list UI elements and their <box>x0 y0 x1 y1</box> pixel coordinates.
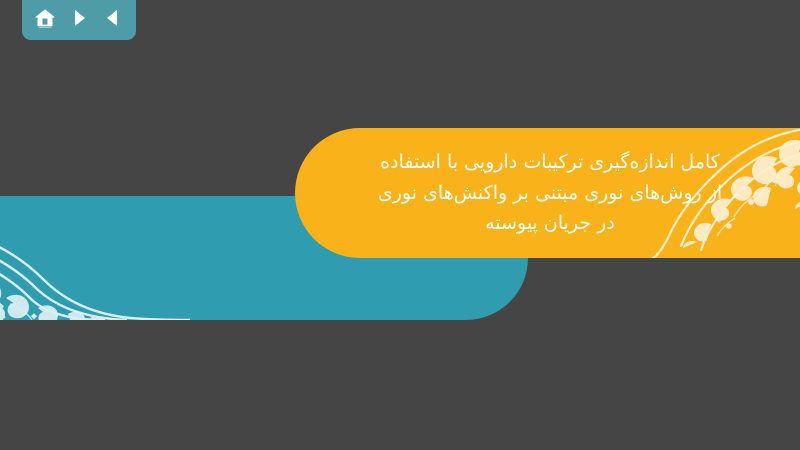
triangle-left-icon <box>103 8 123 28</box>
home-button[interactable] <box>32 5 58 31</box>
triangle-right-icon <box>69 8 89 28</box>
orange-title-panel <box>295 128 800 258</box>
arabesque-ornament <box>635 128 800 258</box>
navigation-bar <box>22 0 136 40</box>
previous-slide-button[interactable] <box>100 5 126 31</box>
next-slide-button[interactable] <box>66 5 92 31</box>
arabesque-ornament <box>0 196 190 320</box>
home-icon <box>34 7 56 29</box>
